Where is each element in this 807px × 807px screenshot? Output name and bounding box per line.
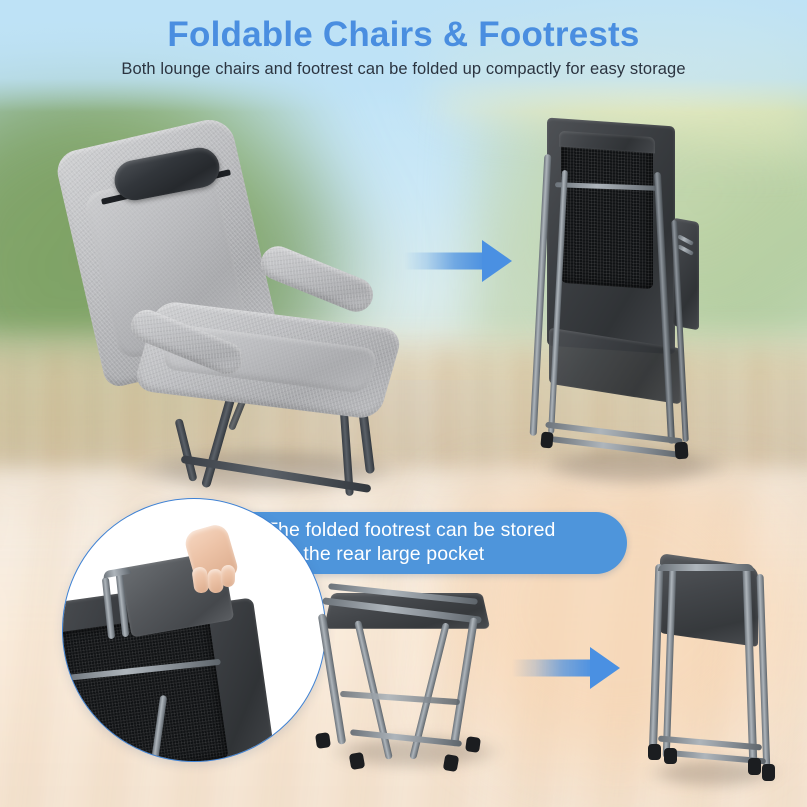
footrest-leg-front-left: [318, 613, 347, 745]
hand-finger-3: [221, 565, 236, 587]
footrest-folded-cap-1: [648, 744, 661, 760]
footrest-cross-brace: [340, 691, 460, 705]
page-subtitle: Both lounge chairs and footrest can be f…: [0, 60, 807, 79]
header: Foldable Chairs & Footrests Both lounge …: [0, 0, 807, 79]
rear-mesh-pocket: [561, 137, 653, 289]
product-infographic: Foldable Chairs & Footrests Both lounge …: [0, 0, 807, 807]
footrest-folded-cap-4: [762, 764, 775, 781]
footrest-folded-image: [638, 552, 798, 792]
footrest-foot-cap-1: [315, 732, 331, 749]
arrow-head: [590, 647, 620, 689]
foot-cap-left: [540, 432, 553, 449]
footrest-folded-leg-1: [649, 564, 664, 760]
footrest-leg-front-right: [450, 617, 478, 747]
chair-armrest-right: [256, 241, 378, 317]
arrow-footrest-fold-icon: [512, 648, 620, 688]
arrow-shaft: [404, 253, 486, 270]
inset-content: [63, 499, 325, 761]
chair-open-image: [70, 118, 430, 490]
footrest-foot-cap-2: [465, 736, 481, 753]
footrest-folded-top-bar: [658, 564, 754, 571]
arrow-shaft: [512, 660, 594, 677]
foot-cap-right: [674, 442, 688, 460]
footrest-foot-cap-3: [349, 752, 366, 770]
footrest-folded-cap-3: [748, 758, 761, 775]
arrow-head: [482, 240, 512, 282]
inset-detail-circle: [62, 498, 326, 762]
footrest-folded-cap-2: [664, 748, 677, 764]
arrow-chair-fold-icon: [404, 240, 512, 282]
page-title: Foldable Chairs & Footrests: [0, 0, 807, 54]
footrest-foot-cap-4: [443, 754, 460, 772]
chair-folded-image: [525, 112, 755, 487]
footrest-open-image: [314, 585, 522, 780]
